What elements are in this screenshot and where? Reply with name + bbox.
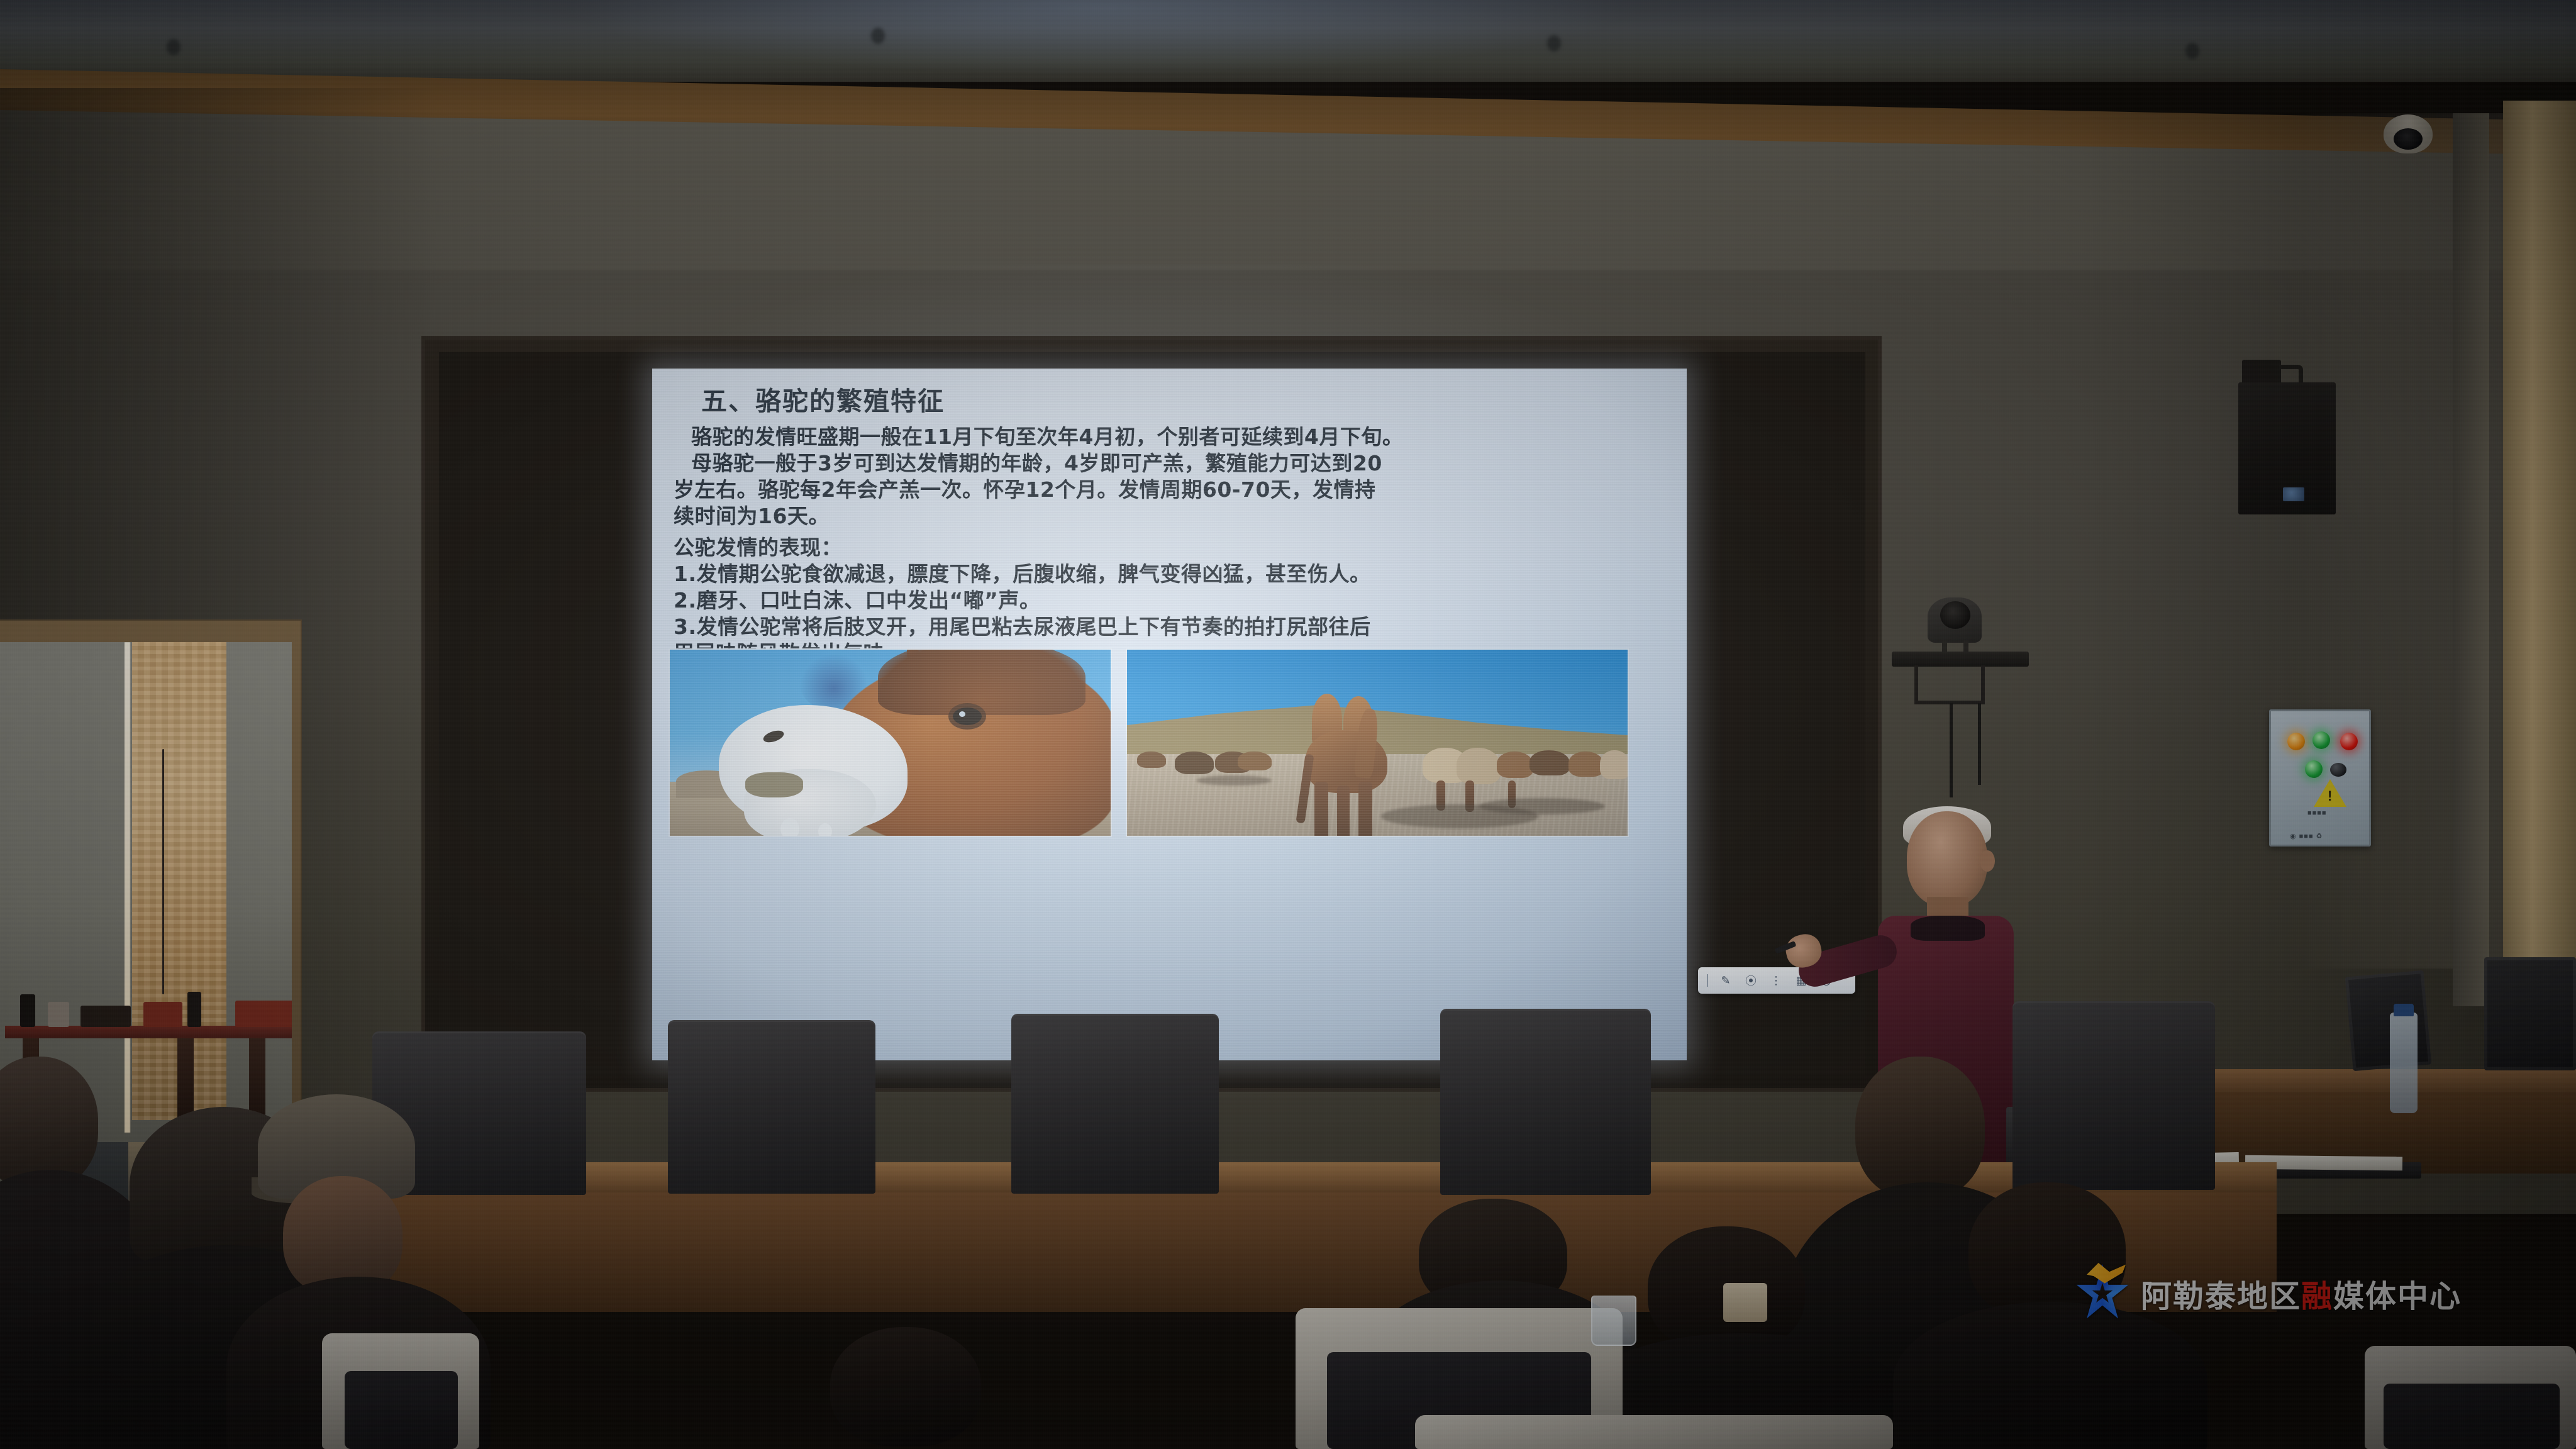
hanging-cord [162, 749, 164, 994]
photo1-foam-drip-1 [780, 818, 799, 837]
console-table [5, 1026, 292, 1038]
chair-dark-3[interactable] [1011, 1014, 1219, 1194]
ceiling-fixture-4 [2185, 43, 2199, 59]
high-voltage-warning-icon [2314, 779, 2346, 807]
slide-paragraph-2: 母骆驼一般于3岁可到达发情期的年龄，4岁即可产羔，繁殖能力可达到20 [674, 450, 1667, 477]
dome-surveillance-camera [2384, 114, 2433, 153]
ptz-mount-rail [1892, 652, 2029, 667]
slide-bullet-1: 1.发情期公驼食欲减退，膘度下降，后腹收缩，脾气变得凶猛，甚至伤人。 [674, 561, 1667, 587]
decor-vase-dark [20, 994, 35, 1027]
led-indicator-red [2340, 733, 2358, 750]
watermark-text: 阿勒泰地区 融 媒体中心 [2141, 1272, 2462, 1316]
decor-bottle [187, 992, 201, 1027]
photo2-shadow-mid [1479, 798, 1605, 814]
photo2-far-camel-1 [1137, 752, 1166, 768]
photo2-camel-leg-2 [1337, 786, 1350, 837]
photo1-camel-mane [878, 648, 1085, 715]
panel-footer-label: ◉ ■■■ ♻ [2290, 832, 2323, 840]
decor-tray-right [235, 1001, 292, 1027]
photo1-camel-eye [953, 708, 982, 725]
photo2-mid-camel-3 [1497, 752, 1533, 778]
led-indicator-amber [2287, 733, 2305, 750]
chair-white-3[interactable] [1415, 1415, 1893, 1449]
speaker-brand-badge [2283, 487, 2304, 501]
watermark: 阿勒泰地区 融 媒体中心 [2075, 1264, 2462, 1323]
slide-bullet-3: 3.发情公驼常将后肢叉开，用尾巴粘去尿液尾巴上下有节奏的拍打尻部往后 [674, 614, 1667, 640]
ceiling-fixture-1 [167, 39, 180, 55]
person7-shoulders [1893, 1302, 2207, 1449]
slide-paragraph-3: 岁左右。骆驼每2年会产羔一次。怀孕12个月。发情周期60-70天，发情持 [674, 477, 1667, 503]
decor-box-dark [80, 1006, 131, 1027]
ceiling-light-glow [566, 0, 1635, 75]
audience-person-8 [786, 1327, 1038, 1449]
drinking-glass [1591, 1296, 1636, 1346]
right-pillar [2503, 101, 2576, 1044]
presenter-head [1907, 811, 1987, 907]
decor-box-red [143, 1002, 182, 1027]
electrical-control-panel[interactable]: ■■■■ ◉ ■■■ ♻ [2269, 709, 2371, 847]
ceiling-fixture-3 [1547, 35, 1561, 52]
photo2-mid-camel-2 [1457, 748, 1501, 784]
person8-head [830, 1327, 981, 1446]
decor-bowl [48, 1002, 69, 1027]
chair-dark-2[interactable] [668, 1020, 875, 1194]
ptz-cable-left [1950, 703, 1953, 797]
right-wall-recess [2453, 113, 2489, 1006]
photo1-camel-mouth [745, 772, 803, 797]
dots-icon[interactable]: ⋮ [1768, 973, 1784, 988]
photo2-mid-camel-5 [1568, 752, 1604, 777]
led-indicator-green [2312, 731, 2330, 749]
ceiling-fixture-2 [871, 28, 885, 44]
presenter-collar [1911, 916, 1985, 941]
watermark-text-highlight: 融 [2301, 1272, 2333, 1316]
presenter-ear [1980, 850, 1995, 872]
pen-icon[interactable]: ✎ [1718, 973, 1733, 988]
photo2-far-camel-4 [1238, 752, 1272, 770]
slide-section-heading: 公驼发情的表现： [674, 535, 1667, 561]
paper-cup [1723, 1283, 1767, 1322]
monitor-2 [2484, 957, 2576, 1070]
photo2-mid-camel-6 [1600, 750, 1629, 779]
slide-photo-camel-herd [1126, 648, 1629, 837]
slide-photo-row [669, 648, 1665, 843]
monitor-screen-2 [2487, 960, 2573, 1067]
chair-white-4-seat [2384, 1384, 2560, 1449]
watermark-text-part-2: 媒体中心 [2333, 1272, 2462, 1316]
photo2-mid-camel-4 [1529, 750, 1570, 775]
photo2-camel-tail [1296, 754, 1314, 824]
photo2-camel-leg-1 [1314, 782, 1328, 837]
led-indicator-green-2 [2305, 760, 2323, 778]
panel-warning-label: ■■■■ [2307, 809, 2327, 817]
water-bottle [2390, 1013, 2418, 1113]
slide-photo-camel-head [669, 648, 1112, 837]
photo2-foreground-camel [1297, 694, 1397, 826]
toolbar-divider [1707, 974, 1708, 987]
photo2-far-camel-2 [1175, 752, 1214, 774]
slide-bullet-2: 2.磨牙、口吐白沫、口中发出“嘟”声。 [674, 587, 1667, 614]
person1-head [0, 1057, 98, 1189]
ptz-mount-bracket [1914, 665, 1985, 704]
projected-slide: 五、骆驼的繁殖特征 骆驼的发情旺盛期一般在11月下旬至次年4月初，个别者可延续到… [652, 369, 1687, 1060]
slide-title: 五、骆驼的繁殖特征 [701, 380, 945, 418]
water-bottle-cap [2394, 1004, 2414, 1016]
ptz-camera-lens-icon [1940, 601, 1970, 629]
rotary-selector-knob[interactable] [2330, 763, 2346, 777]
photo1-foam-drip-2 [818, 823, 832, 837]
swoosh-icon [2087, 1263, 2126, 1284]
person5-head [1855, 1057, 1985, 1199]
slide-body: 骆驼的发情旺盛期一般在11月下旬至次年4月初，个别者可延续到4月下旬。 母骆驼一… [674, 419, 1667, 667]
photo2-shadow-far [1196, 775, 1272, 786]
watermark-text-part-1: 阿勒泰地区 [2141, 1272, 2301, 1316]
laser-pointer-icon[interactable]: ⦿ [1743, 973, 1758, 988]
conference-room-scene: 五、骆驼的繁殖特征 骆驼的发情旺盛期一般在11月下旬至次年4月初，个别者可延续到… [0, 0, 2576, 1449]
slide-paragraph-1: 骆驼的发情旺盛期一般在11月下旬至次年4月初，个别者可延续到4月下旬。 [674, 424, 1667, 450]
slide-paragraph-4: 续时间为16天。 [674, 503, 1667, 530]
altay-media-center-star-logo-icon [2075, 1264, 2129, 1323]
ptz-cable-right [1978, 703, 1981, 785]
monitor [2345, 970, 2432, 1071]
photo2-camel-leg-3 [1358, 782, 1372, 837]
chair-dark-5[interactable] [2012, 1001, 2215, 1190]
chair-white-1-seat [345, 1371, 458, 1449]
